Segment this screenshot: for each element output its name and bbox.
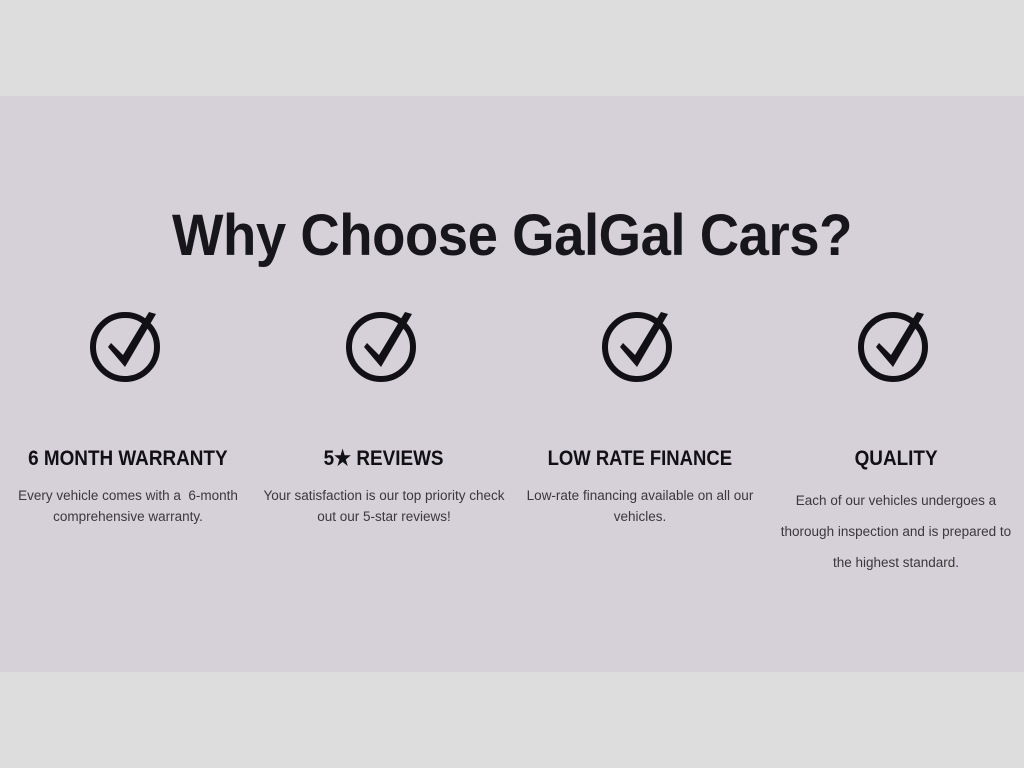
- feature-title: 6 MONTH WARRANTY: [28, 448, 228, 469]
- feature-title: LOW RATE FINANCE: [548, 448, 732, 469]
- check-circle-icon: [598, 302, 682, 386]
- screenshot-frame: Why Choose GalGal Cars? 6 MONTH WARRANTY…: [0, 0, 1024, 768]
- feature-item-quality: QUALITY Each of our vehicles undergoes a…: [768, 302, 1024, 578]
- feature-description: Each of our vehicles undergoes a thoroug…: [771, 485, 1021, 578]
- feature-list: 6 MONTH WARRANTY Every vehicle comes wit…: [0, 302, 1024, 578]
- feature-description: Every vehicle comes with a 6-month compr…: [0, 485, 259, 527]
- check-circle-icon: [342, 302, 426, 386]
- page-title: Why Choose GalGal Cars?: [31, 207, 994, 265]
- feature-description: Your satisfaction is our top priority ch…: [253, 485, 515, 527]
- content-band: Why Choose GalGal Cars? 6 MONTH WARRANTY…: [0, 96, 1024, 672]
- feature-item-reviews: 5★ REVIEWS Your satisfaction is our top …: [256, 302, 512, 527]
- feature-description: Low-rate financing available on all our …: [509, 485, 771, 527]
- check-circle-icon: [854, 302, 938, 386]
- feature-title: 5★ REVIEWS: [324, 448, 444, 469]
- feature-item-finance: LOW RATE FINANCE Low-rate financing avai…: [512, 302, 768, 527]
- feature-title: QUALITY: [855, 448, 938, 469]
- feature-item-warranty: 6 MONTH WARRANTY Every vehicle comes wit…: [0, 302, 256, 527]
- check-circle-icon: [86, 302, 170, 386]
